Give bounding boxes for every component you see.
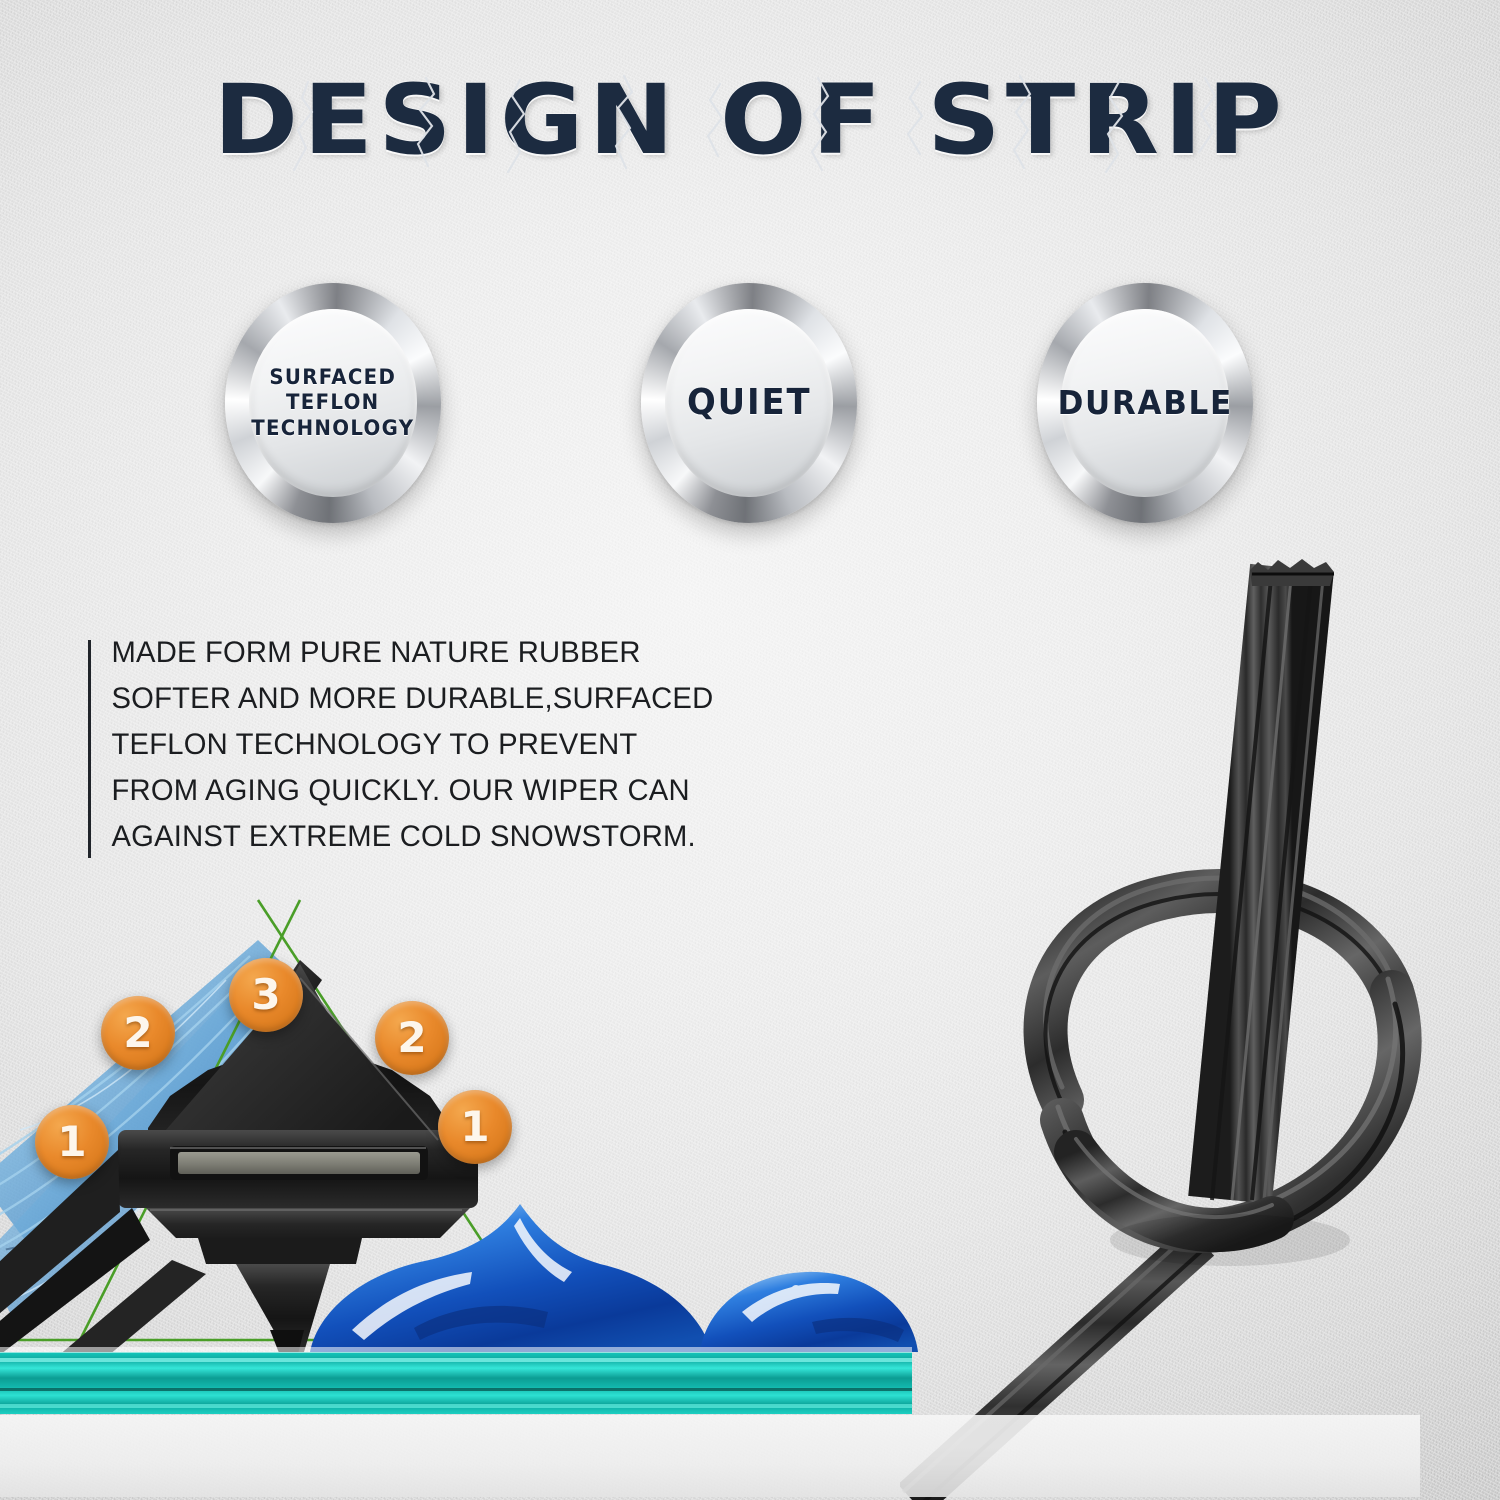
- badge-label-teflon: SURFACED TEFLON TECHNOLOGY: [251, 365, 414, 442]
- badge-label-quiet: QUIET: [687, 381, 811, 425]
- feature-badge-quiet[interactable]: QUIET: [641, 283, 857, 523]
- description-text: MADE FORM PURE NATURE RUBBER SOFTER AND …: [112, 630, 805, 860]
- feature-badge-durable[interactable]: DURABLE: [1037, 283, 1253, 523]
- glass-surface: [0, 1352, 912, 1414]
- badge-inner-disc: SURFACED TEFLON TECHNOLOGY: [249, 309, 417, 496]
- badge-inner-disc: DURABLE: [1061, 309, 1229, 496]
- badge-inner-disc: QUIET: [665, 309, 833, 496]
- callout-number: 1: [460, 1106, 489, 1148]
- callout-number: 2: [397, 1017, 426, 1059]
- description-block: MADE FORM PURE NATURE RUBBER SOFTER AND …: [108, 630, 808, 860]
- callout-2-right[interactable]: 2: [375, 1001, 449, 1075]
- callout-1-right[interactable]: 1: [438, 1090, 512, 1164]
- feature-badge-teflon[interactable]: SURFACED TEFLON TECHNOLOGY: [225, 283, 441, 523]
- callout-2-left[interactable]: 2: [101, 996, 175, 1070]
- wiper-cross-section-diagram: 1 2 3 2 1: [0, 860, 960, 1500]
- description-accent-rule: [88, 640, 91, 858]
- callout-number: 2: [123, 1012, 152, 1054]
- page-title: DESIGN OF STRIP: [213, 72, 1287, 168]
- strip-vertical-end: [1212, 559, 1334, 1200]
- product-infographic: DESIGN OF STRIP SURFACED TEFLON TECHNOLO…: [0, 0, 1500, 1500]
- product-photo-rubber-strip: [900, 540, 1500, 1500]
- page-title-area: DESIGN OF STRIP: [0, 72, 1500, 168]
- callout-number: 3: [251, 974, 280, 1016]
- badge-label-durable: DURABLE: [1057, 383, 1232, 423]
- bottom-white-band: [0, 1415, 1420, 1497]
- callout-number: 1: [57, 1121, 86, 1163]
- callout-3-top[interactable]: 3: [229, 958, 303, 1032]
- callout-1-left[interactable]: 1: [35, 1105, 109, 1179]
